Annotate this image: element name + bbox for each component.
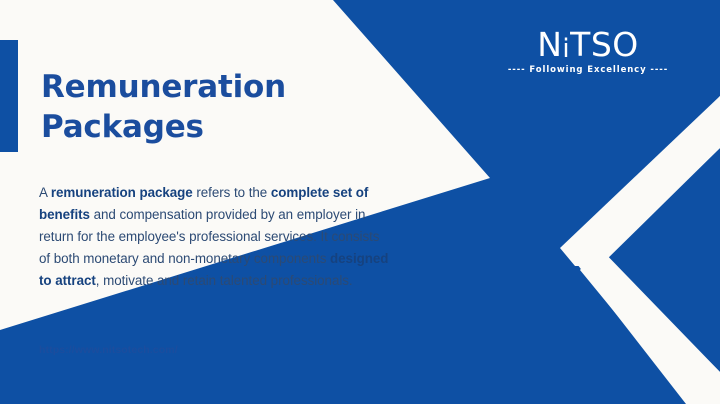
- body-text-run: and compensation provided by an employer…: [39, 207, 379, 266]
- slide-canvas: NiTSO ---- Following Excellency ---- Rem…: [0, 0, 720, 404]
- logo-letter-i: i: [562, 34, 570, 64]
- body-text-run: A: [39, 185, 51, 200]
- website-url[interactable]: https://www.nitsotech.com/: [39, 344, 178, 356]
- logo-letter-n: N: [537, 25, 562, 64]
- body-text-run: , motivate and retain talented professio…: [96, 273, 353, 288]
- body-text-emphasis: remuneration package: [51, 185, 193, 200]
- brand-logo: NiTSO ---- Following Excellency ----: [498, 28, 678, 75]
- page-title: Remuneration Packages: [41, 67, 361, 148]
- body-paragraph: A remuneration package refers to the com…: [39, 182, 391, 291]
- logo-wordmark: NiTSO: [498, 28, 678, 61]
- logo-letters-tso: TSO: [570, 25, 639, 64]
- logo-tagline: ---- Following Excellency ----: [498, 65, 678, 75]
- body-text-run: refers to the: [193, 185, 271, 200]
- left-accent-bar: [0, 40, 18, 152]
